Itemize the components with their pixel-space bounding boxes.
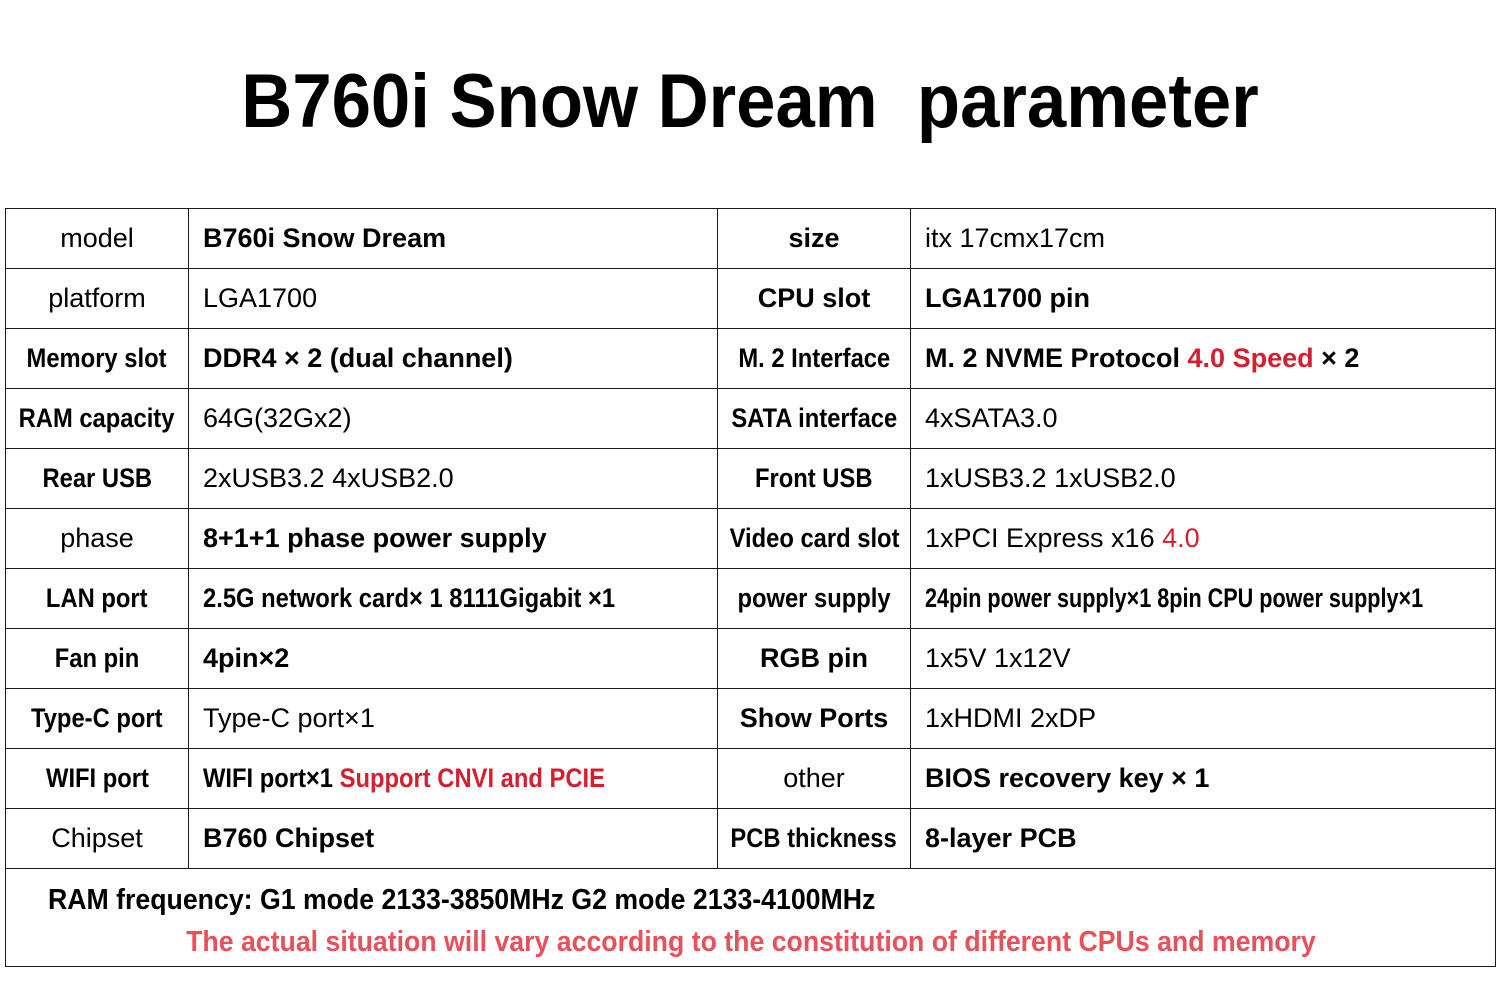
row-value-platform: LGA1700	[189, 269, 718, 329]
m2-value-highlight: 4.0 Speed	[1188, 343, 1314, 373]
wifi-value-highlight: Support CNVI and PCIE	[340, 763, 605, 793]
row-value-power-supply: 24pin power supply×1 8pin CPU power supp…	[911, 569, 1496, 629]
row-value-pcb-thickness: 8-layer PCB	[911, 809, 1496, 869]
row-value-typec-port: Type-C port×1	[189, 689, 718, 749]
row-value-model: B760i Snow Dream	[189, 209, 718, 269]
spec-sheet-page: B760i Snow Dream parameter model B760i S…	[0, 0, 1500, 1000]
table-row: model B760i Snow Dream size itx 17cmx17c…	[6, 209, 1496, 269]
row-value-front-usb: 1xUSB3.2 1xUSB2.0	[911, 449, 1496, 509]
footer-cell: RAM frequency: G1 mode 2133-3850MHz G2 m…	[6, 869, 1496, 967]
disclaimer-note: The actual situation will vary according…	[6, 917, 1495, 959]
row-value-phase: 8+1+1 phase power supply	[189, 509, 718, 569]
ram-frequency-note: RAM frequency: G1 mode 2133-3850MHz G2 m…	[6, 876, 1495, 917]
m2-value-suffix: × 2	[1314, 343, 1360, 373]
table-row: Rear USB 2xUSB3.2 4xUSB2.0 Front USB 1xU…	[6, 449, 1496, 509]
row-label-memory-slot: Memory slot	[6, 329, 189, 389]
row-label-show-ports: Show Ports	[718, 689, 911, 749]
row-label-platform: platform	[6, 269, 189, 329]
row-label-other: other	[718, 749, 911, 809]
m2-value-prefix: M. 2 NVME Protocol	[925, 343, 1188, 373]
row-value-rgb-pin: 1x5V 1x12V	[911, 629, 1496, 689]
row-label-size: size	[718, 209, 911, 269]
row-label-rear-usb: Rear USB	[6, 449, 189, 509]
row-label-m2-interface: M. 2 Interface	[718, 329, 911, 389]
table-row: platform LGA1700 CPU slot LGA1700 pin	[6, 269, 1496, 329]
row-value-cpu-slot: LGA1700 pin	[911, 269, 1496, 329]
row-value-rear-usb: 2xUSB3.2 4xUSB2.0	[189, 449, 718, 509]
row-label-cpu-slot: CPU slot	[718, 269, 911, 329]
row-label-rgb-pin: RGB pin	[718, 629, 911, 689]
specification-table: model B760i Snow Dream size itx 17cmx17c…	[5, 208, 1496, 967]
row-label-pcb-thickness: PCB thickness	[718, 809, 911, 869]
row-value-ram-capacity: 64G(32Gx2)	[189, 389, 718, 449]
row-value-wifi-port: WIFI port×1 Support CNVI and PCIE	[189, 749, 718, 809]
vga-value-prefix: 1xPCI Express x16	[925, 523, 1162, 553]
table-row: Fan pin 4pin×2 RGB pin 1x5V 1x12V	[6, 629, 1496, 689]
row-value-show-ports: 1xHDMI 2xDP	[911, 689, 1496, 749]
table-row: RAM capacity 64G(32Gx2) SATA interface 4…	[6, 389, 1496, 449]
row-label-phase: phase	[6, 509, 189, 569]
row-label-sata-interface: SATA interface	[718, 389, 911, 449]
row-value-memory-slot: DDR4 × 2 (dual channel)	[189, 329, 718, 389]
row-value-sata-interface: 4xSATA3.0	[911, 389, 1496, 449]
table-row: Chipset B760 Chipset PCB thickness 8-lay…	[6, 809, 1496, 869]
row-label-ram-capacity: RAM capacity	[6, 389, 189, 449]
table-row: phase 8+1+1 phase power supply Video car…	[6, 509, 1496, 569]
row-label-lan-port: LAN port	[6, 569, 189, 629]
table-row: WIFI port WIFI port×1 Support CNVI and P…	[6, 749, 1496, 809]
table-row: Memory slot DDR4 × 2 (dual channel) M. 2…	[6, 329, 1496, 389]
row-label-model: model	[6, 209, 189, 269]
row-label-front-usb: Front USB	[718, 449, 911, 509]
row-value-chipset: B760 Chipset	[189, 809, 718, 869]
wifi-value-prefix: WIFI port×1	[203, 763, 340, 793]
row-label-power-supply: power supply	[718, 569, 911, 629]
row-label-typec-port: Type-C port	[6, 689, 189, 749]
row-label-fan-pin: Fan pin	[6, 629, 189, 689]
row-value-video-card-slot: 1xPCI Express x16 4.0	[911, 509, 1496, 569]
row-label-wifi-port: WIFI port	[6, 749, 189, 809]
table-row: Type-C port Type-C port×1 Show Ports 1xH…	[6, 689, 1496, 749]
row-value-size: itx 17cmx17cm	[911, 209, 1496, 269]
table-row: LAN port 2.5G network card× 1 8111Gigabi…	[6, 569, 1496, 629]
row-value-other: BIOS recovery key × 1	[911, 749, 1496, 809]
table-footer-row: RAM frequency: G1 mode 2133-3850MHz G2 m…	[6, 869, 1496, 967]
row-value-lan-port: 2.5G network card× 1 8111Gigabit ×1	[189, 569, 718, 629]
vga-value-highlight: 4.0	[1162, 523, 1200, 553]
row-label-chipset: Chipset	[6, 809, 189, 869]
page-title: B760i Snow Dream parameter	[53, 56, 1448, 148]
row-label-video-card-slot: Video card slot	[718, 509, 911, 569]
row-value-fan-pin: 4pin×2	[189, 629, 718, 689]
row-value-m2-interface: M. 2 NVME Protocol 4.0 Speed × 2	[911, 329, 1496, 389]
